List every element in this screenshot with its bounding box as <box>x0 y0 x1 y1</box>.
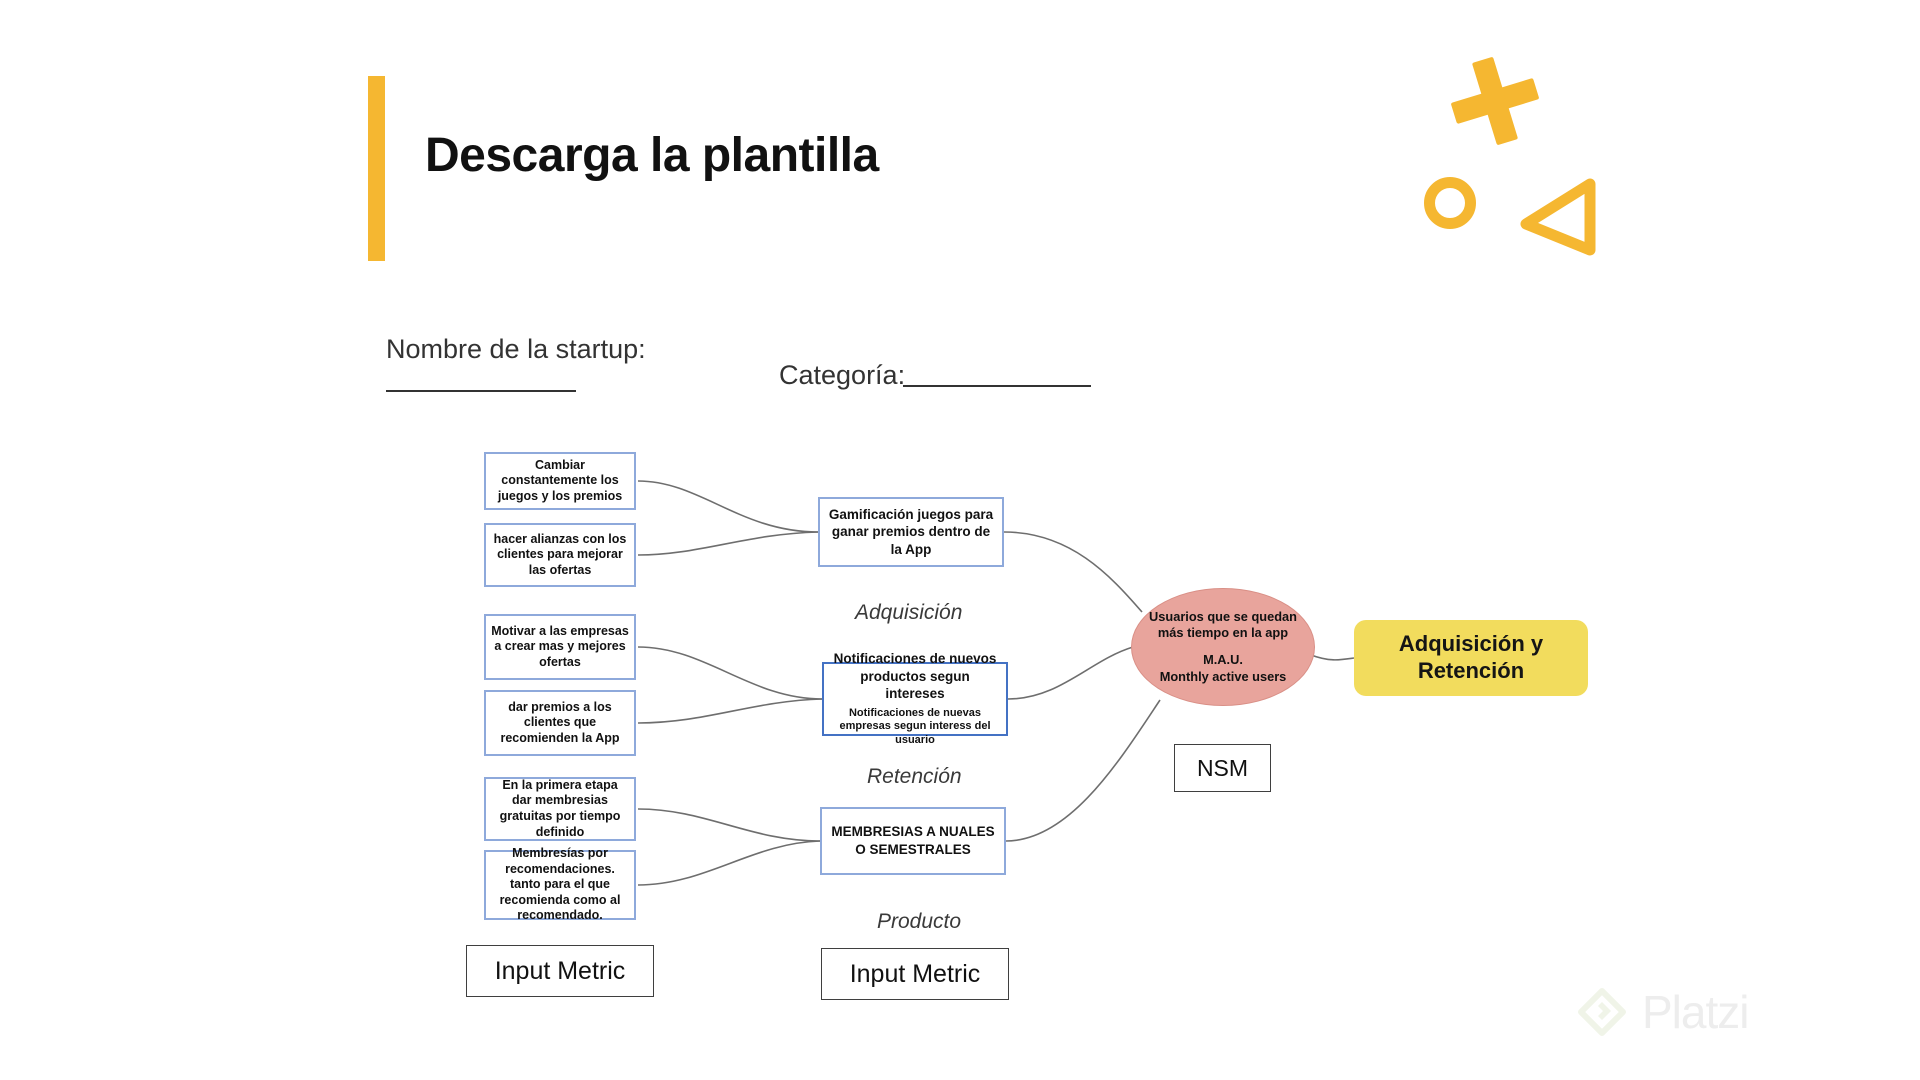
platzi-watermark: Platzi <box>1578 985 1748 1039</box>
middle-box-primary-text: Notificaciones de nuevos productos segun… <box>830 650 1000 703</box>
input-box[interactable]: Motivar a las empresas a crear mas y mej… <box>484 614 636 680</box>
nsm-label-box[interactable]: NSM <box>1174 744 1271 792</box>
nsm-line-2: más tiempo en la app <box>1149 625 1297 642</box>
input-box[interactable]: Membresías por recomendaciones. tanto pa… <box>484 850 636 920</box>
middle-box[interactable]: Notificaciones de nuevos productos segun… <box>822 662 1008 736</box>
middle-box-secondary-text: Notificaciones de nuevas empresas segun … <box>830 707 1000 748</box>
platzi-wordmark: Platzi <box>1642 985 1748 1039</box>
input-box[interactable]: hacer alianzas con los clientes para mej… <box>484 523 636 587</box>
stage-label-adquisicion: Adquisición <box>855 601 962 625</box>
outcome-line-2: Retención <box>1399 658 1543 685</box>
stage-label-retencion: Retención <box>867 765 962 789</box>
stage-label-producto: Producto <box>877 910 961 934</box>
input-metric-box-left[interactable]: Input Metric <box>466 945 654 997</box>
nsm-line-4: Monthly active users <box>1160 669 1287 686</box>
middle-box-primary-text: Gamificación juegos para ganar premios d… <box>826 506 996 559</box>
input-box[interactable]: dar premios a los clientes que recomiend… <box>484 690 636 756</box>
input-box[interactable]: Cambiar constantemente los juegos y los … <box>484 452 636 510</box>
nsm-ellipse[interactable]: Usuarios que se quedan más tiempo en la … <box>1131 588 1315 706</box>
input-metric-box-right[interactable]: Input Metric <box>821 948 1009 1000</box>
middle-box[interactable]: MEMBRESIAS A NUALES O SEMESTRALES <box>820 807 1006 875</box>
outcome-box[interactable]: Adquisición y Retención <box>1354 620 1588 696</box>
platzi-logo-icon <box>1578 988 1626 1036</box>
slide-canvas: Descarga la plantilla Nombre de la start… <box>0 0 1920 1080</box>
middle-box[interactable]: Gamificación juegos para ganar premios d… <box>818 497 1004 567</box>
input-box[interactable]: En la primera etapa dar membresias gratu… <box>484 777 636 841</box>
nsm-line-3: M.A.U. <box>1160 652 1287 669</box>
nsm-line-1: Usuarios que se quedan <box>1149 609 1297 626</box>
middle-box-primary-text: MEMBRESIAS A NUALES O SEMESTRALES <box>828 823 998 858</box>
outcome-line-1: Adquisición y <box>1399 631 1543 658</box>
